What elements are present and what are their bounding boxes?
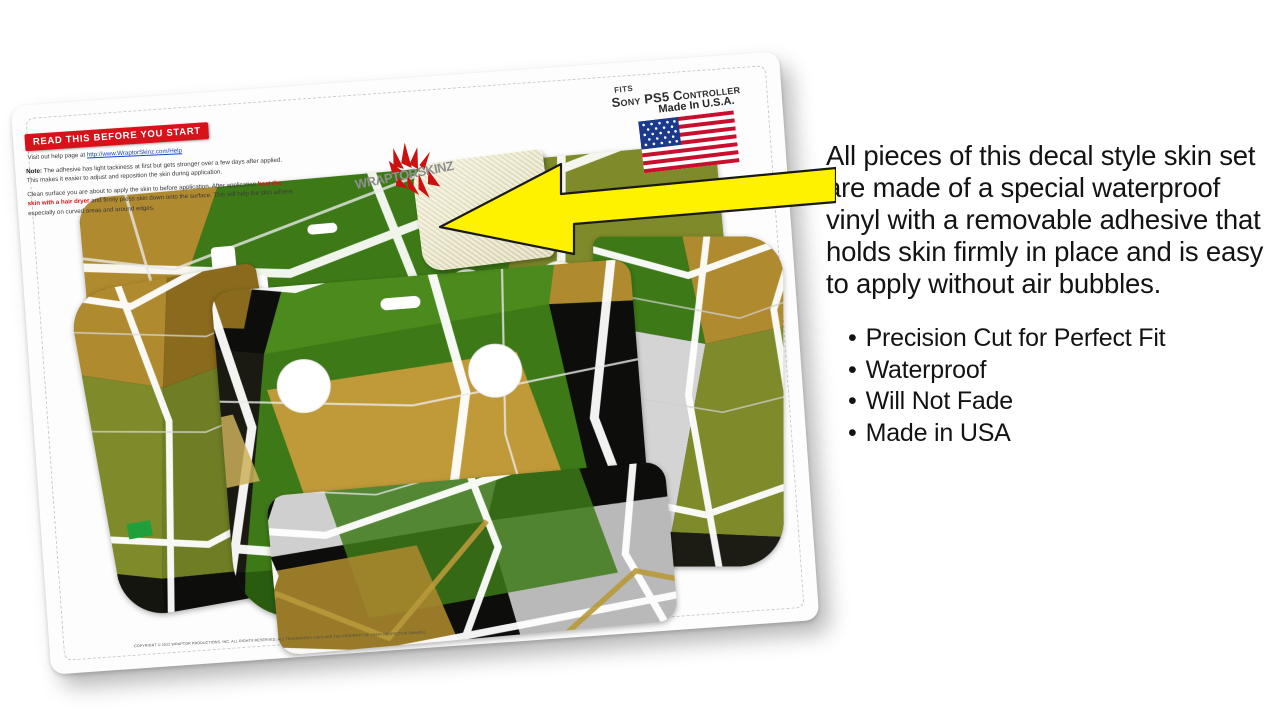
feature-bullet: Will Not Fade (848, 386, 1272, 418)
feature-bullet-list: Precision Cut for Perfect Fit Waterproof… (826, 323, 1272, 449)
camo-pattern (266, 461, 679, 656)
skin-sheet: WRAPTORSKINZ FITS Sony PS5 Controller Ma… (11, 51, 820, 675)
help-prefix: Visit out help page at (27, 152, 87, 162)
skin-piece-touchpad (266, 461, 679, 656)
marketing-lead-paragraph: All pieces of this decal style skin set … (826, 140, 1272, 299)
marketing-copy: All pieces of this decal style skin set … (826, 140, 1272, 449)
skin-sheet-stage: WRAPTORSKINZ FITS Sony PS5 Controller Ma… (0, 0, 860, 715)
instructions-block: READ THIS BEFORE YOU START Visit out hel… (24, 116, 320, 219)
left-arrow-icon (436, 150, 836, 260)
feature-bullet: Precision Cut for Perfect Fit (848, 323, 1272, 355)
note-label: Note: (26, 167, 42, 175)
feature-bullet: Waterproof (848, 355, 1272, 387)
help-url-link[interactable]: http://www.WraptorSkinz.com/Help (87, 147, 182, 158)
feature-bullet: Made in USA (848, 418, 1272, 450)
